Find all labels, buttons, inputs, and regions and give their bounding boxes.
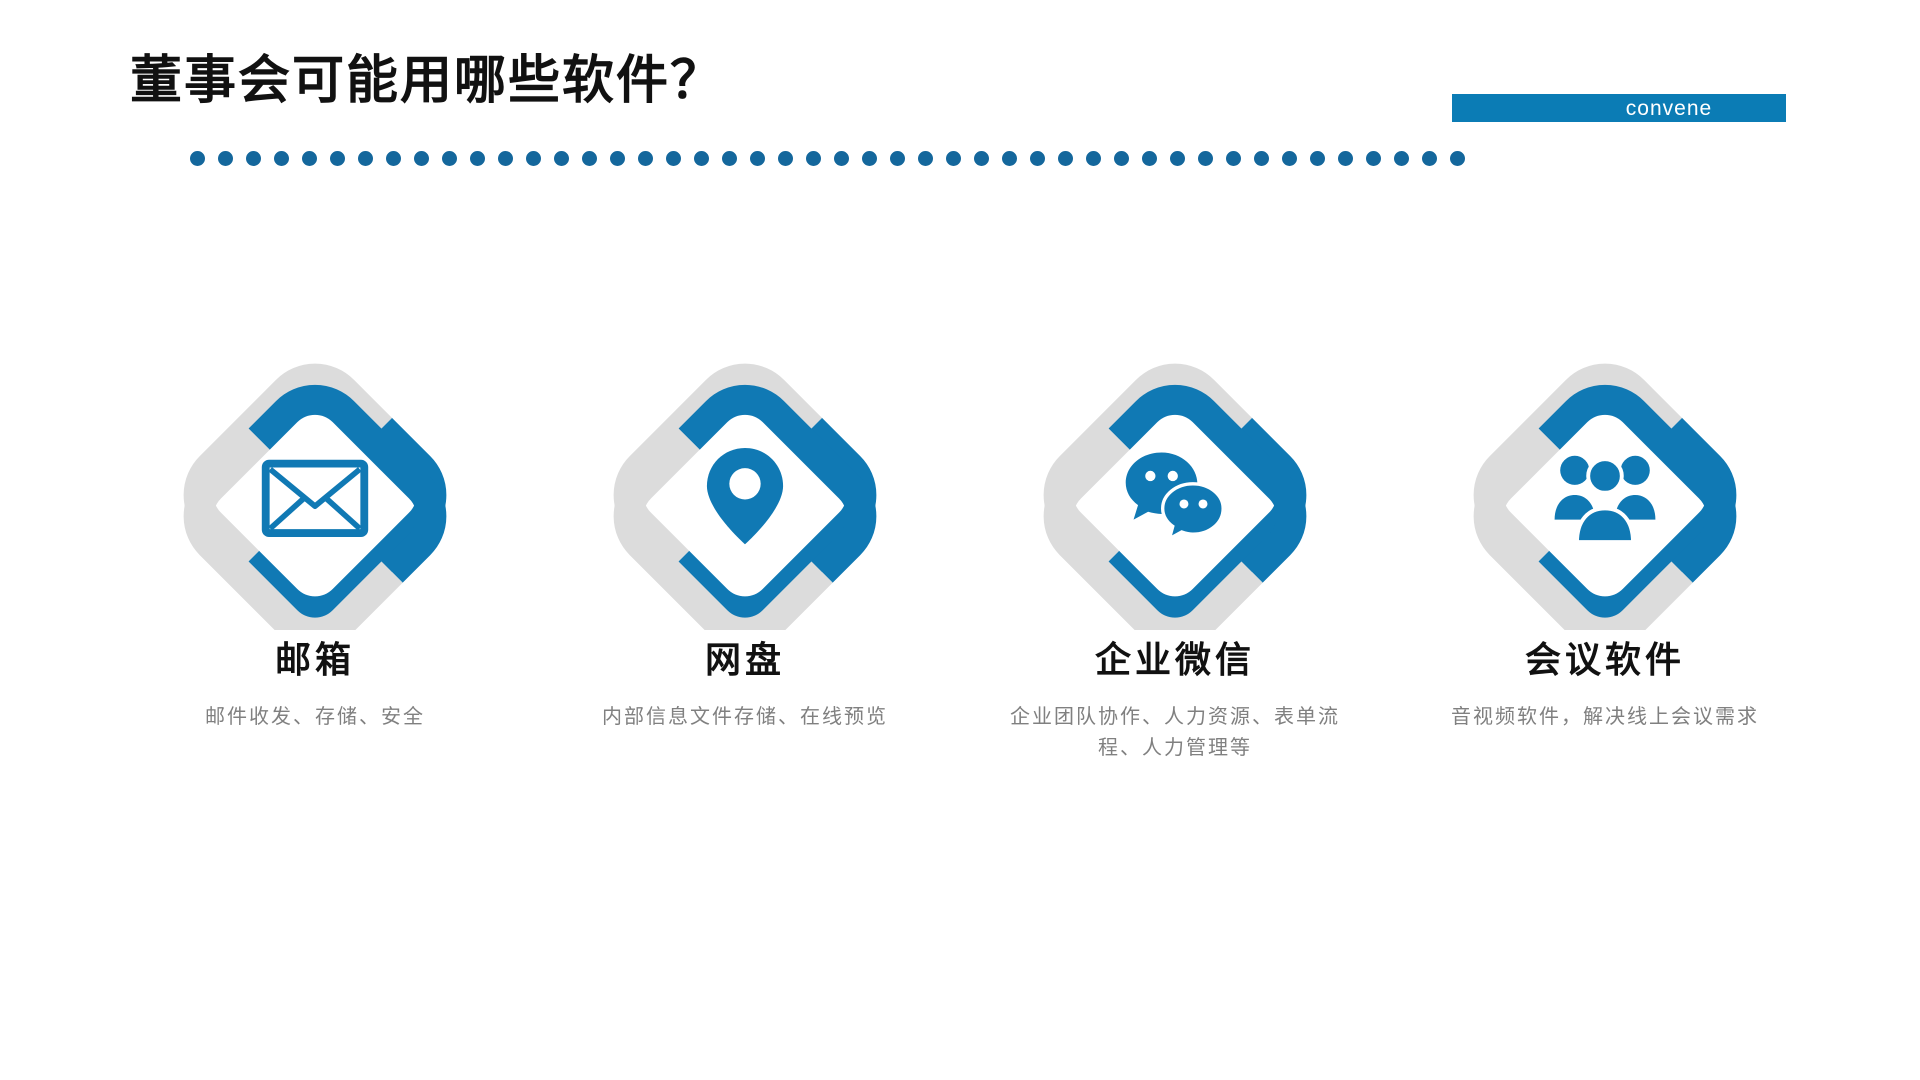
divider-dot [386,151,401,166]
divider-dot [890,151,905,166]
divider-dot [1310,151,1325,166]
divider-dot [1366,151,1381,166]
card-title: 邮箱 [275,640,355,680]
divider-dot [834,151,849,166]
divider-dot [666,151,681,166]
divider-dot [1142,151,1157,166]
divider-dot [1338,151,1353,166]
divider-dot [1170,151,1185,166]
location-pin-icon [610,360,880,630]
divider-dot [610,151,625,166]
software-card-row: 邮箱 邮件收发、存储、安全 [100,360,1820,764]
card-description: 企业团队协作、人力资源、表单流程、人力管理等 [1010,702,1340,764]
divider-dot [1030,151,1045,166]
page-title: 董事会可能用哪些软件？ [130,55,724,107]
divider-dot [246,151,261,166]
divider-dot [1002,151,1017,166]
card-description: 内部信息文件存储、在线预览 [602,702,888,733]
divider-dot [218,151,233,166]
dotted-divider [190,150,1460,166]
brand-badge-label: convene [1526,98,1712,119]
divider-dot [442,151,457,166]
divider-dot [1114,151,1129,166]
divider-dot [750,151,765,166]
divider-dot [358,151,373,166]
divider-dot [1394,151,1409,166]
card-description: 音视频软件，解决线上会议需求 [1451,702,1759,733]
diamond-emblem [610,360,880,630]
card-meeting-software: 会议软件 音视频软件，解决线上会议需求 [1390,360,1820,733]
people-group-icon [1470,360,1740,630]
divider-dot [582,151,597,166]
divider-dot [694,151,709,166]
card-title: 会议软件 [1525,640,1685,680]
divider-dot [554,151,569,166]
envelope-icon [180,360,450,630]
divider-dot [778,151,793,166]
divider-dot [974,151,989,166]
divider-dot [1198,151,1213,166]
divider-dot [498,151,513,166]
divider-dot [638,151,653,166]
divider-dot [1422,151,1437,166]
divider-dot [862,151,877,166]
divider-dot [302,151,317,166]
divider-dot [470,151,485,166]
divider-dot [1282,151,1297,166]
divider-dot [946,151,961,166]
card-cloud-disk: 网盘 内部信息文件存储、在线预览 [530,360,960,733]
diamond-emblem [1470,360,1740,630]
divider-dot [274,151,289,166]
divider-dot [330,151,345,166]
divider-dot [918,151,933,166]
divider-dot [806,151,821,166]
divider-dot [1226,151,1241,166]
diamond-emblem [180,360,450,630]
wechat-bubbles-icon [1040,360,1310,630]
divider-dot [722,151,737,166]
card-title: 网盘 [705,640,785,680]
card-title: 企业微信 [1095,640,1255,680]
divider-dot [526,151,541,166]
divider-dot [1086,151,1101,166]
divider-dot [1254,151,1269,166]
divider-dot [1058,151,1073,166]
card-wechat-work: 企业微信 企业团队协作、人力资源、表单流程、人力管理等 [960,360,1390,764]
card-email: 邮箱 邮件收发、存储、安全 [100,360,530,733]
divider-dot [414,151,429,166]
diamond-emblem [1040,360,1310,630]
card-description: 邮件收发、存储、安全 [205,702,425,733]
divider-dot [190,151,205,166]
brand-badge: convene [1452,94,1786,122]
divider-dot [1450,151,1465,166]
